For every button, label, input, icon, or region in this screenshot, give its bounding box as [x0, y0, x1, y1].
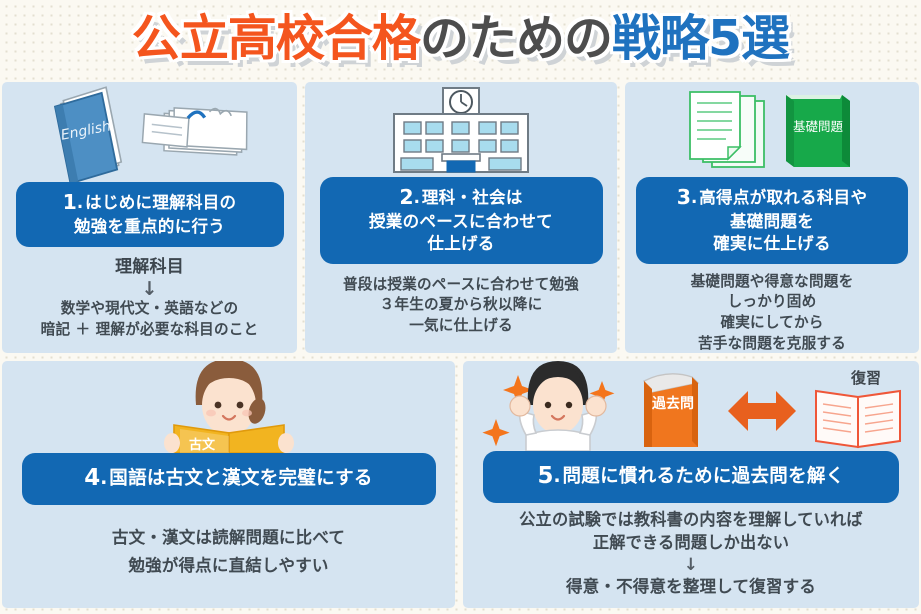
card-1-body-line-2: 暗記 ＋ 理解が必要な科目のこと [2, 320, 297, 341]
card-1-arrow-icon: ↓ [2, 280, 297, 298]
strategy-card-3[interactable]: 基礎問題 3.高得点が取れる科目や 基礎問題を 確実に仕上げる 基礎問題や得意な… [625, 82, 919, 353]
card-3-number: 3 [677, 185, 691, 209]
card-2-body-line-2: ３年生の夏から秋以降に [305, 295, 617, 316]
card-1-lead: 理解科目 [2, 255, 297, 279]
card-3-body-line-1: 基礎問題や得意な問題を [625, 272, 919, 293]
english-textbook-icon: English [35, 82, 265, 182]
card-1-body: 数学や現代文・英語などの 暗記 ＋ 理解が必要な科目のこと [2, 299, 297, 340]
school-building-icon [386, 85, 536, 177]
double-arrow-icon [728, 391, 796, 431]
card-5-conclusion: 得意・不得意を整理して復習する [463, 575, 919, 598]
card-1-heading-line-1: はじめに理解科目の [85, 193, 236, 212]
strategy-card-2[interactable]: 2.理科・社会は 授業のペースに合わせて 仕上げる 普段は授業のペースに合わせて… [305, 82, 617, 353]
card-5-number: 5 [537, 463, 553, 489]
card-3-body-line-2: しっかり固め [625, 292, 919, 313]
card-5-banner: 5.問題に慣れるために過去問を解く [483, 451, 899, 503]
page-title: 公立高校合格のための戦略5選 [0, 0, 921, 76]
svg-text:過去問: 過去問 [651, 395, 694, 412]
strategy-card-5[interactable]: 過去問 復習 [463, 361, 919, 608]
happy-boy-icon [510, 361, 606, 451]
card-1-artwork: English [2, 82, 297, 182]
card-2-body-line-3: 一気に仕上げる [305, 316, 617, 337]
card-5-body-line-2: 正解できる問題しか出ない [463, 532, 919, 555]
card-1-number: 1 [63, 190, 77, 214]
card-4-heading-line-1: 国語は古文と漢文を完璧にする [109, 468, 372, 489]
strategy-card-4[interactable]: 古文 4.国語は古文と漢文を完璧にする 古文・漢文は読解問題に比べて 勉強が得点… [2, 361, 455, 608]
card-2-body: 普段は授業のペースに合わせて勉強 ３年生の夏から秋以降に 一気に仕上げる [305, 275, 617, 337]
card-5-body-line-1: 公立の試験では教科書の内容を理解していれば [463, 509, 919, 532]
open-book-icon: 復習 [816, 369, 900, 447]
card-4-body: 古文・漢文は読解問題に比べて 勉強が得点に直結しやすい [2, 524, 455, 580]
card-1-heading-line-2: 勉強を重点的に行う [74, 217, 225, 236]
card-5-arrow-icon: ↓ [463, 557, 919, 573]
card-5-body: 公立の試験では教科書の内容を理解していれば 正解できる問題しか出ない [463, 509, 919, 554]
card-4-body-line-2: 勉強が得点に直結しやすい [2, 552, 455, 580]
svg-text:基礎問題: 基礎問題 [793, 119, 844, 134]
card-3-body-line-3: 確実にしてから [625, 313, 919, 334]
card-2-heading-line-3: 仕上げる [427, 234, 494, 253]
card-3-banner: 3.高得点が取れる科目や 基礎問題を 確実に仕上げる [636, 177, 908, 264]
past-exam-book-icon: 過去問 [644, 374, 698, 447]
review-label: 復習 [850, 369, 881, 387]
infographic-canvas: 公立高校合格のための戦略5選 English [0, 0, 921, 614]
card-2-heading-line-1: 理科・社会は [422, 188, 523, 207]
card-4-artwork: 古文 [2, 361, 455, 453]
card-4-number: 4 [84, 465, 100, 491]
card-1-banner: 1.はじめに理解科目の 勉強を重点的に行う [16, 182, 284, 247]
basic-problems-book-icon: 基礎問題 [786, 95, 850, 167]
card-2-artwork [305, 82, 617, 177]
girl-reading-icon: 古文 [144, 361, 314, 453]
card-3-body-line-4: 苦手な問題を克服する [625, 334, 919, 353]
strategy-card-1[interactable]: English 1.はじめに理解科目の 勉強を重点的に行う 理解科目 ↓ [2, 82, 297, 353]
card-2-heading-line-2: 授業のペースに合わせて [369, 212, 553, 231]
title-text: 公立高校合格のための戦略5選 [132, 14, 789, 63]
title-segment-orange: 公立高校合格 [132, 10, 420, 67]
card-3-heading-line-1: 高得点が取れる科目や [699, 188, 867, 207]
card-3-body: 基礎問題や得意な問題を しっかり固め 確実にしてから 苦手な問題を克服する [625, 272, 919, 353]
card-3-heading-line-3: 確実に仕上げる [713, 234, 831, 253]
title-segment-dark: のための [420, 10, 612, 67]
card-5-artwork: 過去問 復習 [463, 361, 919, 451]
card-3-icons: 基礎問題 [682, 87, 862, 177]
title-segment-blue: 戦略5選 [612, 10, 789, 67]
card-4-banner: 4.国語は古文と漢文を完璧にする [22, 453, 436, 505]
card-4-body-line-1: 古文・漢文は読解問題に比べて [2, 524, 455, 552]
card-5-icons: 過去問 復習 [476, 361, 906, 451]
card-2-banner: 2.理科・社会は 授業のペースに合わせて 仕上げる [320, 177, 603, 264]
card-5-heading-line-1: 問題に慣れるために過去問を解く [562, 466, 844, 487]
worksheet-papers-icon [690, 92, 764, 167]
card-1-body-line-1: 数学や現代文・英語などの [2, 299, 297, 320]
svg-text:古文: 古文 [188, 437, 215, 453]
card-2-body-line-1: 普段は授業のペースに合わせて勉強 [305, 275, 617, 296]
card-2-number: 2 [399, 185, 413, 209]
card-3-artwork: 基礎問題 [625, 82, 919, 177]
card-3-heading-line-2: 基礎問題を [730, 212, 814, 231]
